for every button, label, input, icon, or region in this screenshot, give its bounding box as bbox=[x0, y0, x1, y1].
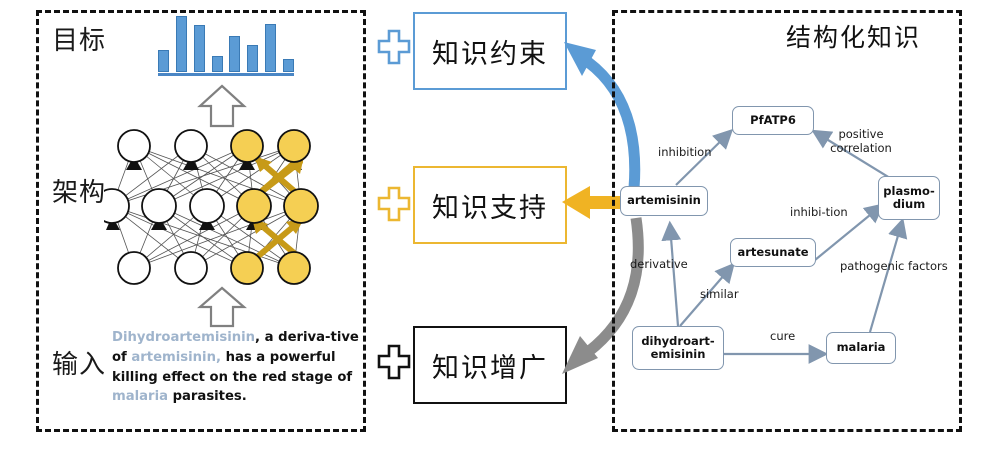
target-bar-chart bbox=[158, 14, 294, 76]
edge-label-inhibition: inhibition bbox=[658, 146, 712, 160]
edge-label-pathogenic-factors: pathogenic factors bbox=[840, 260, 948, 274]
bar-7 bbox=[265, 24, 276, 72]
edge-label-similar: similar bbox=[700, 288, 739, 302]
bar-1 bbox=[158, 50, 169, 72]
plus-icon-constraint bbox=[377, 29, 411, 65]
node-dihydroartemisinin[interactable]: dihydroart-emisinin bbox=[632, 326, 724, 370]
edge-label-cure: cure bbox=[770, 330, 795, 344]
stage-label-target: 目标 bbox=[52, 28, 106, 54]
knowledge-graph: PfATP6 artemisinin plasmo-dium artesunat… bbox=[612, 10, 962, 432]
edge-label-positive-correlation: positivecorrelation bbox=[824, 128, 898, 156]
node-artesunate[interactable]: artesunate bbox=[730, 238, 816, 267]
entity-mention: Dihydroartemisinin bbox=[112, 330, 255, 345]
input-sentence: Dihydroartemisinin, a deriva-tive of art… bbox=[112, 328, 360, 407]
node-artemisinin[interactable]: artemisinin bbox=[620, 186, 708, 216]
bar-chart-bars bbox=[158, 16, 294, 72]
node-pfatp6[interactable]: PfATP6 bbox=[732, 106, 814, 135]
neural-network-diagram bbox=[104, 126, 324, 286]
bar-chart-axis bbox=[158, 73, 294, 76]
node-plasmodium[interactable]: plasmo-dium bbox=[878, 176, 940, 220]
stage-label-architecture: 架构 bbox=[52, 180, 106, 206]
plus-icon-support bbox=[377, 186, 411, 222]
entity-mention: artemisinin, bbox=[131, 350, 221, 365]
plus-icon-augment bbox=[377, 344, 411, 380]
sentence-text: parasites. bbox=[168, 389, 247, 404]
edge-label-inhibi-tion: inhibi-tion bbox=[790, 206, 848, 220]
bar-3 bbox=[194, 25, 205, 72]
bar-6 bbox=[247, 45, 258, 72]
bar-4 bbox=[212, 56, 223, 72]
arrow-up-to-architecture bbox=[197, 286, 247, 333]
entity-mention: malaria bbox=[112, 389, 168, 404]
bar-5 bbox=[229, 36, 240, 72]
bar-8 bbox=[283, 59, 294, 72]
node-malaria[interactable]: malaria bbox=[826, 332, 896, 364]
stage-label-input: 输入 bbox=[52, 352, 106, 378]
edge-label-derivative: derivative bbox=[630, 258, 688, 272]
bar-2 bbox=[176, 16, 187, 72]
